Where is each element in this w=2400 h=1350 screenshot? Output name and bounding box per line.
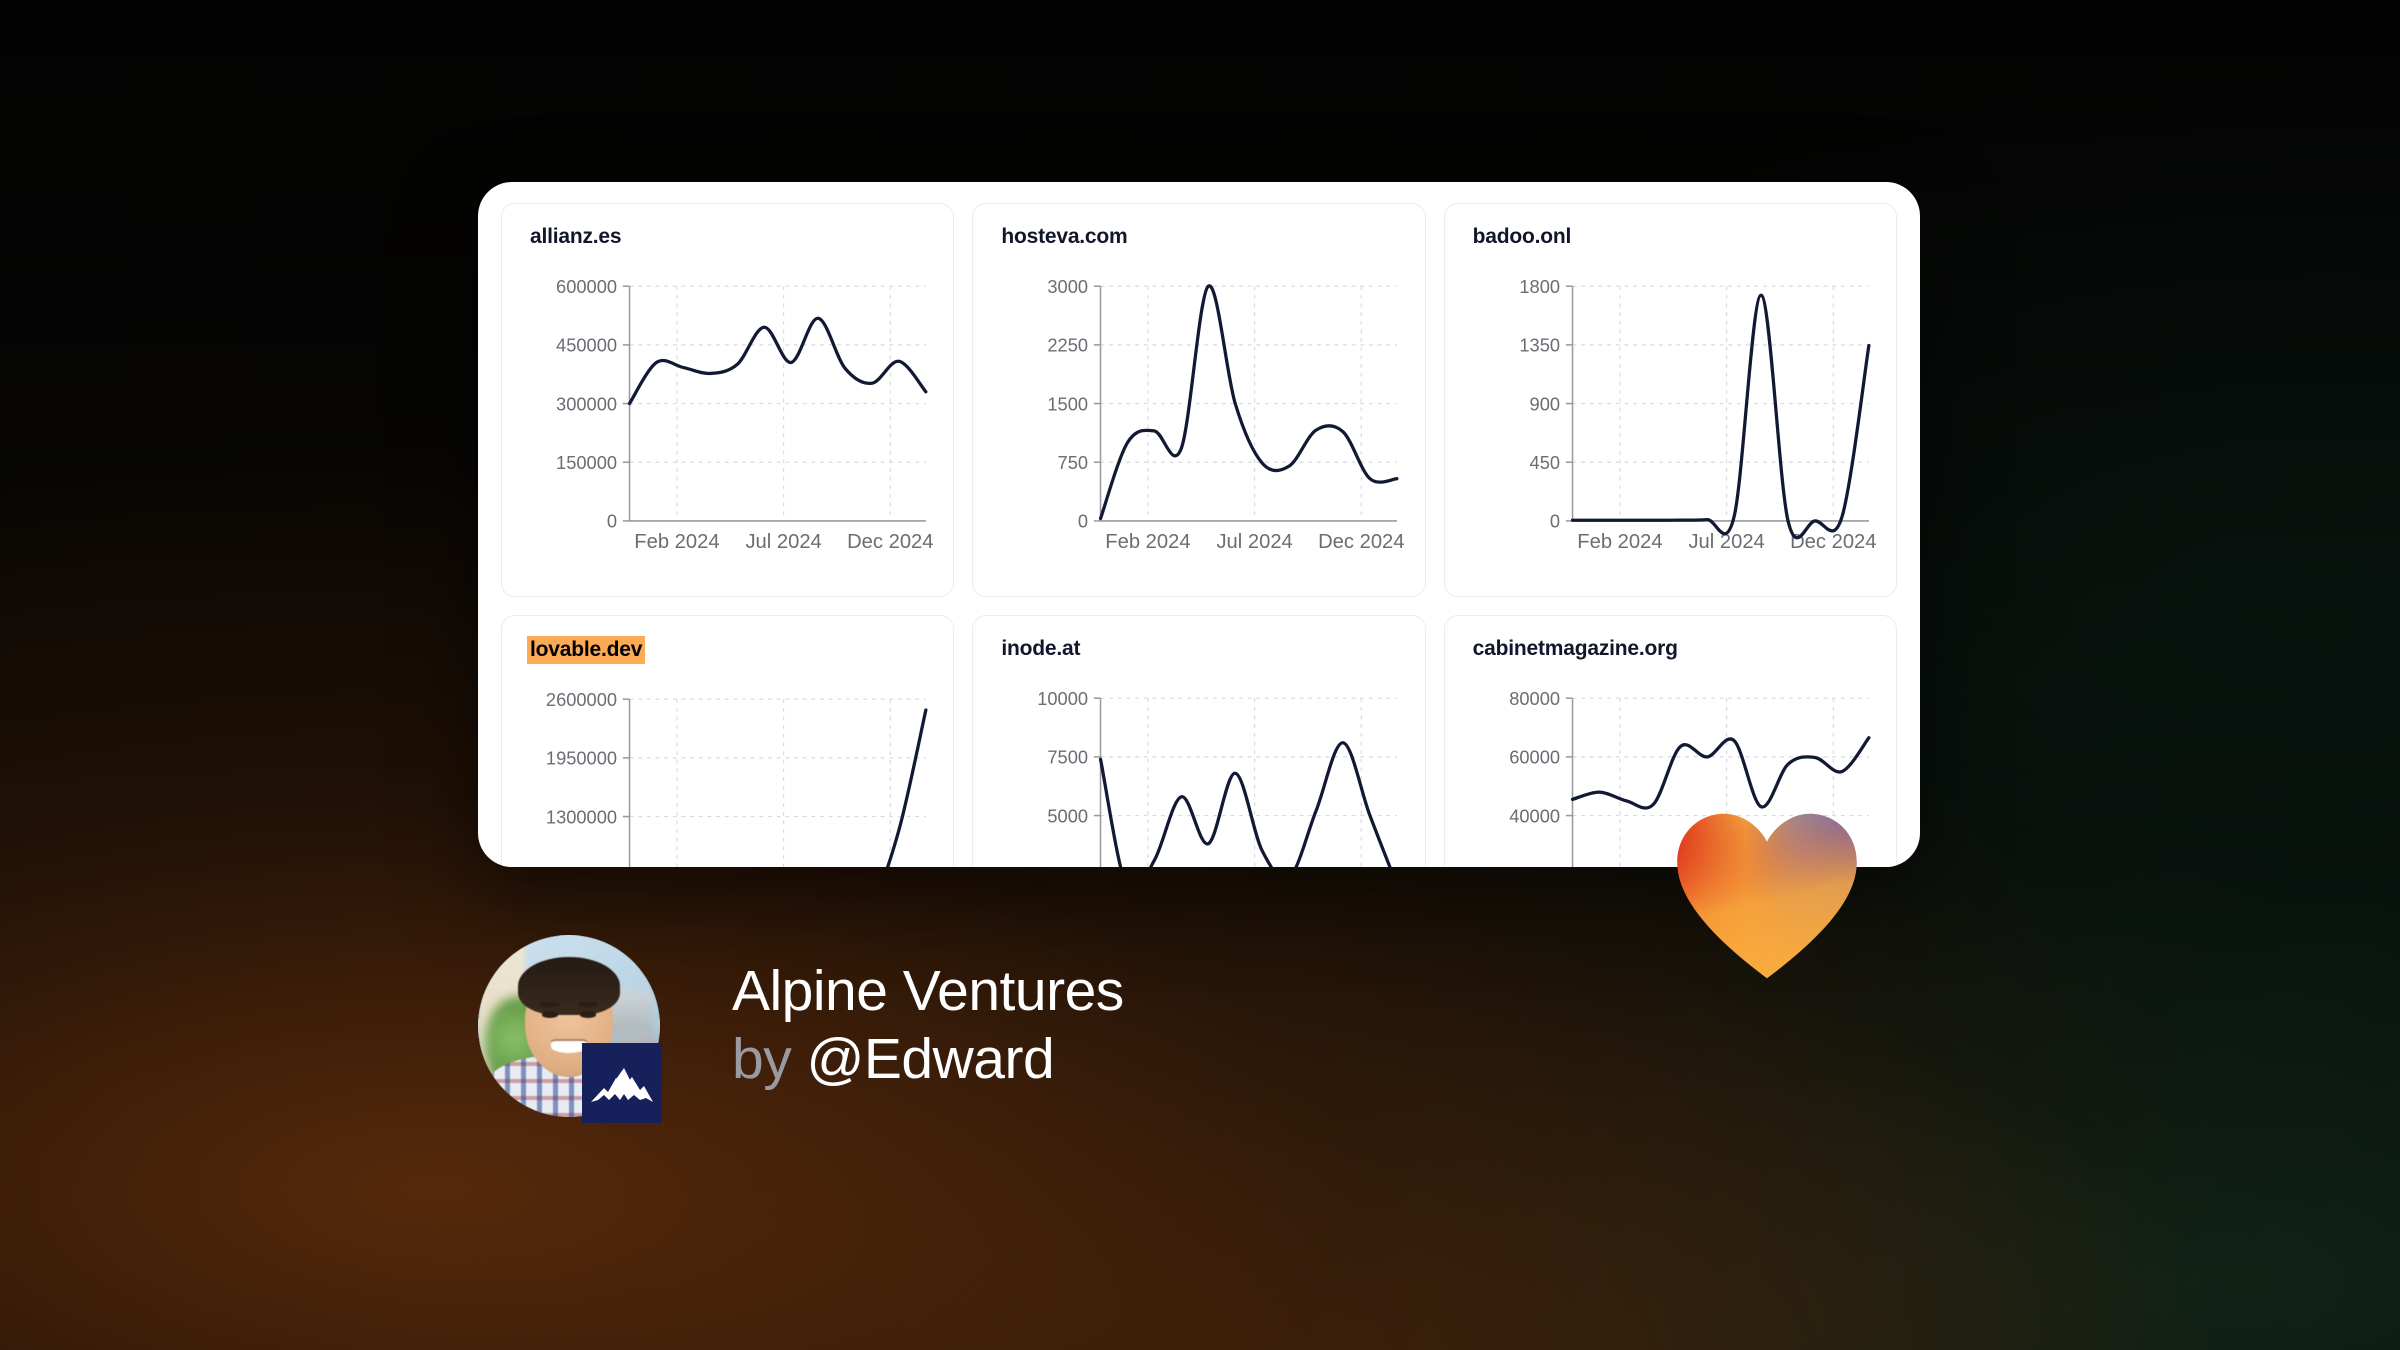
byline: by @Edward	[732, 1029, 1124, 1091]
chart-plot: 650000130000019500002600000Feb 2024Jul 2…	[516, 670, 939, 867]
chart-grid: allianz.es0150000300000450000600000Feb 2…	[478, 182, 1920, 867]
svg-text:0: 0	[1078, 511, 1088, 532]
chart-plot: 0150000300000450000600000Feb 2024Jul 202…	[516, 256, 939, 586]
avatar	[478, 935, 660, 1117]
svg-text:Feb 2024: Feb 2024	[1106, 531, 1191, 553]
chart-title: lovable.dev	[527, 636, 645, 664]
chart-title: inode.at	[1001, 636, 1080, 662]
chart-card[interactable]: badoo.onl045090013501800Feb 2024Jul 2024…	[1444, 203, 1897, 597]
by-label: by	[732, 1027, 791, 1091]
svg-text:Jul 2024: Jul 2024	[745, 531, 821, 553]
svg-text:Feb 2024: Feb 2024	[1577, 531, 1662, 553]
svg-text:2250: 2250	[1048, 335, 1089, 356]
svg-text:750: 750	[1058, 452, 1088, 473]
svg-text:1500: 1500	[1048, 394, 1089, 415]
svg-text:80000: 80000	[1509, 688, 1560, 709]
profile-footer: Alpine Ventures by @Edward	[478, 935, 1124, 1117]
brand-name: Alpine Ventures	[732, 961, 1124, 1023]
svg-text:20000: 20000	[1509, 864, 1560, 867]
mountain-icon	[582, 1043, 662, 1123]
svg-text:Jul 2024: Jul 2024	[1217, 531, 1293, 553]
chart-title: allianz.es	[530, 224, 621, 250]
svg-text:3000: 3000	[1048, 276, 1089, 297]
svg-text:60000: 60000	[1509, 747, 1560, 768]
svg-text:450: 450	[1529, 452, 1559, 473]
chart-plot: 0750150022503000Feb 2024Jul 2024Dec 2024	[987, 256, 1410, 586]
svg-text:450000: 450000	[556, 335, 617, 356]
svg-text:650000: 650000	[556, 865, 617, 867]
chart-card[interactable]: lovable.dev650000130000019500002600000Fe…	[501, 615, 954, 867]
svg-text:300000: 300000	[556, 394, 617, 415]
chart-title: cabinetmagazine.org	[1473, 636, 1678, 662]
chart-title: hosteva.com	[1001, 224, 1127, 250]
chart-title: badoo.onl	[1473, 224, 1572, 250]
svg-text:1350: 1350	[1519, 335, 1560, 356]
svg-text:0: 0	[1550, 511, 1560, 532]
chart-card[interactable]: inode.at25005000750010000Feb 2024Jul 202…	[972, 615, 1425, 867]
dashboard-panel: allianz.es0150000300000450000600000Feb 2…	[478, 182, 1920, 867]
chart-plot: 045090013501800Feb 2024Jul 2024Dec 2024	[1459, 256, 1882, 586]
chart-card[interactable]: allianz.es0150000300000450000600000Feb 2…	[501, 203, 954, 597]
svg-text:40000: 40000	[1509, 806, 1560, 827]
svg-text:2500: 2500	[1048, 864, 1089, 867]
chart-plot: 25005000750010000Feb 2024Jul 2024Dec 202…	[987, 668, 1410, 867]
svg-text:0: 0	[607, 511, 617, 532]
svg-text:Dec 2024: Dec 2024	[1318, 531, 1404, 553]
chart-card[interactable]: hosteva.com0750150022503000Feb 2024Jul 2…	[972, 203, 1425, 597]
identity-block: Alpine Ventures by @Edward	[732, 961, 1124, 1090]
svg-text:10000: 10000	[1038, 688, 1089, 709]
heart-icon	[1672, 810, 1862, 982]
svg-text:Dec 2024: Dec 2024	[847, 531, 933, 553]
svg-text:Feb 2024: Feb 2024	[634, 531, 719, 553]
author-handle: @Edward	[807, 1027, 1055, 1091]
svg-text:2600000: 2600000	[546, 689, 617, 710]
svg-text:5000: 5000	[1048, 806, 1089, 827]
svg-text:7500: 7500	[1048, 747, 1089, 768]
svg-text:1800: 1800	[1519, 276, 1560, 297]
svg-text:1300000: 1300000	[546, 807, 617, 828]
svg-text:900: 900	[1529, 394, 1559, 415]
svg-text:1950000: 1950000	[546, 748, 617, 769]
svg-text:150000: 150000	[556, 452, 617, 473]
svg-text:600000: 600000	[556, 276, 617, 297]
